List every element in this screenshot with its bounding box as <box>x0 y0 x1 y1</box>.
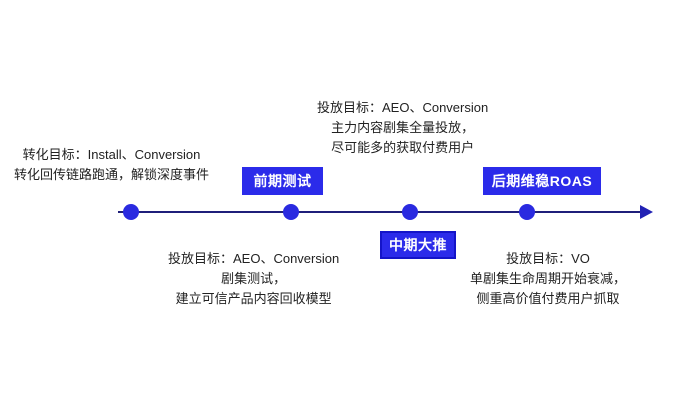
note-line: 建立可信产品内容回收模型 <box>168 289 339 309</box>
note-line: 主力内容剧集全量投放， <box>317 118 488 138</box>
note-line: 尽可能多的获取付费用户 <box>317 138 488 158</box>
note-line: 投放目标：VO <box>470 249 626 269</box>
note-line: 投放目标：AEO、Conversion <box>317 98 488 118</box>
note-aeo-conversion-main: 投放目标：AEO、Conversion 主力内容剧集全量投放， 尽可能多的获取付… <box>317 98 488 158</box>
timeline-axis <box>118 211 646 213</box>
diagram-canvas: 前期测试 中期大推 后期维稳ROAS 转化目标：Install、Conversi… <box>0 0 678 403</box>
phase-box-early[interactable]: 前期测试 <box>242 167 323 195</box>
note-vo: 投放目标：VO 单剧集生命周期开始衰减， 侧重高价值付费用户抓取 <box>470 249 626 309</box>
arrow-right-icon <box>640 205 653 219</box>
phase-box-mid[interactable]: 中期大推 <box>380 231 456 259</box>
note-line: 剧集测试， <box>168 269 339 289</box>
note-line: 转化目标：Install、Conversion <box>14 145 209 165</box>
note-line: 单剧集生命周期开始衰减， <box>470 269 626 289</box>
milestone-dot-icon[interactable] <box>402 204 418 220</box>
milestone-dot-icon[interactable] <box>123 204 139 220</box>
milestone-dot-icon[interactable] <box>283 204 299 220</box>
phase-box-late[interactable]: 后期维稳ROAS <box>483 167 601 195</box>
note-line: 侧重高价值付费用户抓取 <box>470 289 626 309</box>
note-line: 转化回传链路跑通，解锁深度事件 <box>14 165 209 185</box>
note-conversion-goal: 转化目标：Install、Conversion 转化回传链路跑通，解锁深度事件 <box>14 145 209 185</box>
note-aeo-conversion-test: 投放目标：AEO、Conversion 剧集测试， 建立可信产品内容回收模型 <box>168 249 339 309</box>
milestone-dot-icon[interactable] <box>519 204 535 220</box>
note-line: 投放目标：AEO、Conversion <box>168 249 339 269</box>
